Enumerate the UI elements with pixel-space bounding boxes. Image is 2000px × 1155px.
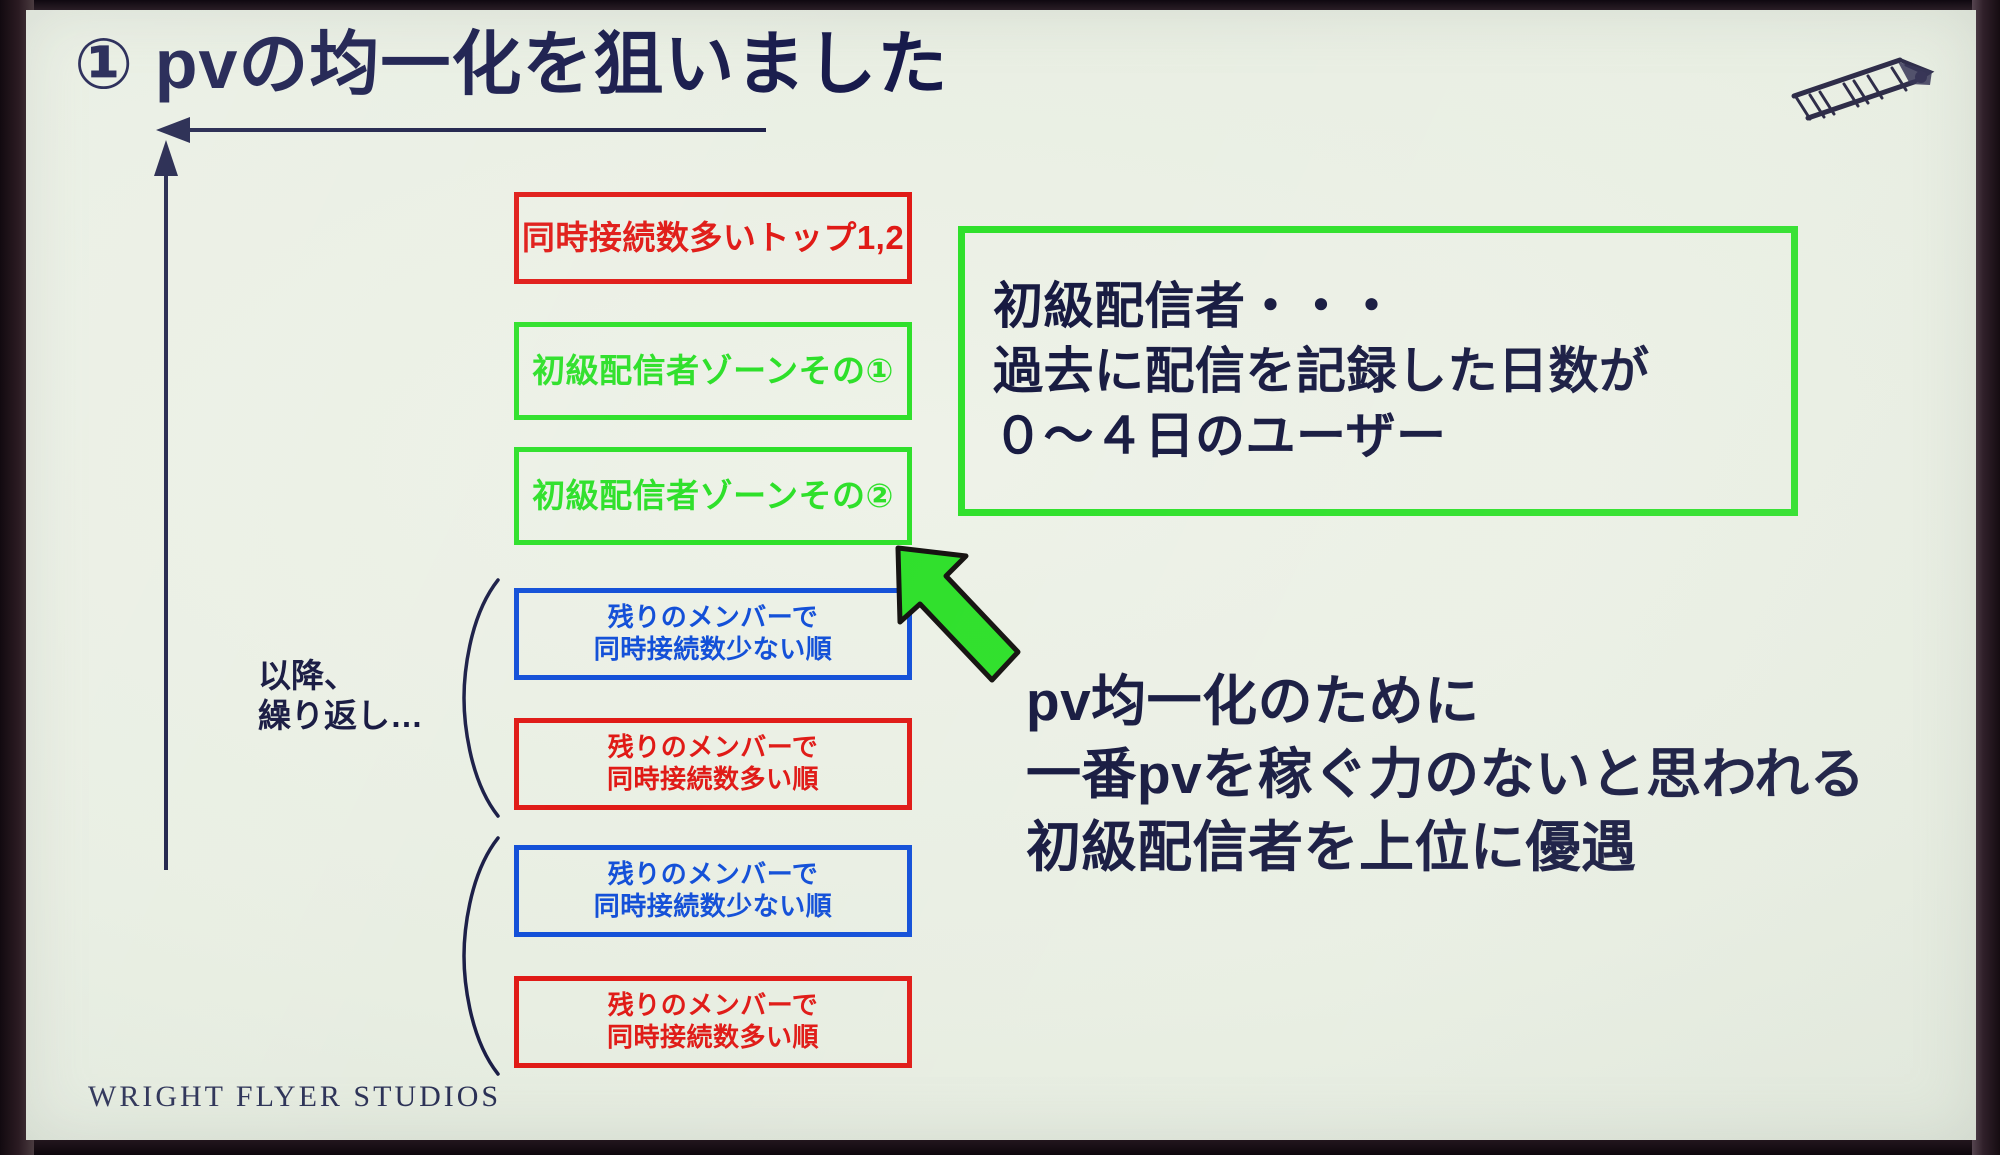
ranking-box-zone2[interactable]: 初級配信者ゾーンその② <box>514 447 912 545</box>
curly-brace-icon <box>458 578 504 818</box>
page-title: ① pvの均一化を狙いました <box>74 28 948 102</box>
ranking-box-rest3[interactable]: 残りのメンバーで 同時接続数少ない順 <box>514 845 912 937</box>
ranking-box-top2[interactable]: 同時接続数多いトップ1,2 <box>514 192 912 284</box>
arrow-left-icon <box>156 110 766 150</box>
ranking-box-zone1[interactable]: 初級配信者ゾーンその① <box>514 322 912 420</box>
ranking-box-rest1[interactable]: 残りのメンバーで 同時接続数少ない順 <box>514 588 912 680</box>
repeat-annotation: 以降、 繰り返し… <box>258 656 423 737</box>
ranking-box-label: 同時接続数多いトップ1,2 <box>522 218 904 258</box>
ranking-box-label: 残りのメンバーで 同時接続数少ない順 <box>594 859 833 922</box>
ranking-box-rest4[interactable]: 残りのメンバーで 同時接続数多い順 <box>514 976 912 1068</box>
arrow-up-icon <box>136 140 196 870</box>
footer-brand: WRIGHT FLYER STUDIOS <box>88 1080 501 1114</box>
ranking-box-label: 残りのメンバーで 同時接続数多い順 <box>607 732 819 795</box>
ranking-box-label: 残りのメンバーで 同時接続数多い順 <box>607 990 819 1053</box>
ranking-box-label: 初級配信者ゾーンその② <box>532 476 894 516</box>
ranking-box-rest2[interactable]: 残りのメンバーで 同時接続数多い順 <box>514 718 912 810</box>
beginner-definition-text: 初級配信者・・・ 過去に配信を記録した日数が ０～４日のユーザー <box>993 274 1650 469</box>
curly-brace-icon <box>458 836 504 1076</box>
ranking-box-label: 初級配信者ゾーンその① <box>532 351 894 391</box>
slide-canvas: ① pvの均一化を狙いました <box>26 10 1976 1140</box>
arrow-up-left-icon <box>888 530 1048 690</box>
biplane-icon <box>1780 38 1940 134</box>
photographed-slide-frame: ① pvの均一化を狙いました <box>0 0 2000 1155</box>
photo-edge-right <box>1972 0 2000 1155</box>
conclusion-text: pv均一化のために 一番pvを稼ぐ力のないと思われる 初級配信者を上位に優遇 <box>1026 665 1865 884</box>
ranking-box-label: 残りのメンバーで 同時接続数少ない順 <box>594 602 833 665</box>
beginner-definition-callout: 初級配信者・・・ 過去に配信を記録した日数が ０～４日のユーザー <box>958 226 1798 516</box>
